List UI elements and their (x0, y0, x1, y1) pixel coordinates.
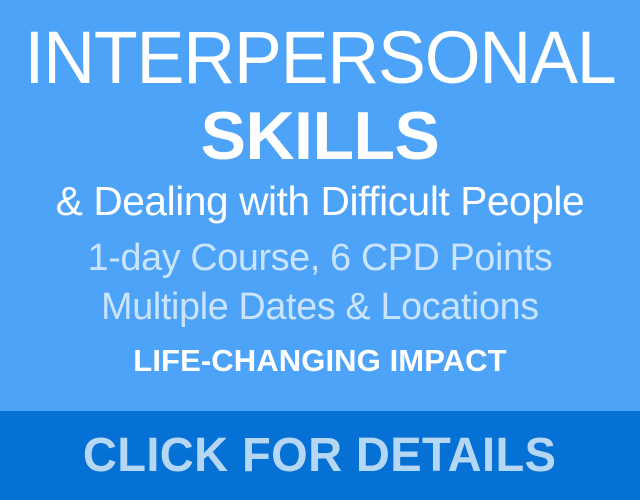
subheading: & Dealing with Difficult People (3, 181, 637, 222)
impact-tagline: LIFE-CHANGING IMPACT (0, 345, 640, 376)
click-for-details-button[interactable]: CLICK FOR DETAILS (0, 411, 640, 500)
headline-primary: INTERPERSONAL (10, 21, 631, 95)
advertisement-banner[interactable]: INTERPERSONAL SKILLS & Dealing with Diff… (0, 0, 640, 500)
cta-label: CLICK FOR DETAILS (83, 432, 557, 480)
course-detail-duration: 1-day Course, 6 CPD Points (3, 239, 637, 277)
banner-content-area: INTERPERSONAL SKILLS & Dealing with Diff… (0, 0, 640, 411)
course-detail-locations: Multiple Dates & Locations (3, 288, 637, 326)
headline-secondary: SKILLS (0, 102, 640, 170)
